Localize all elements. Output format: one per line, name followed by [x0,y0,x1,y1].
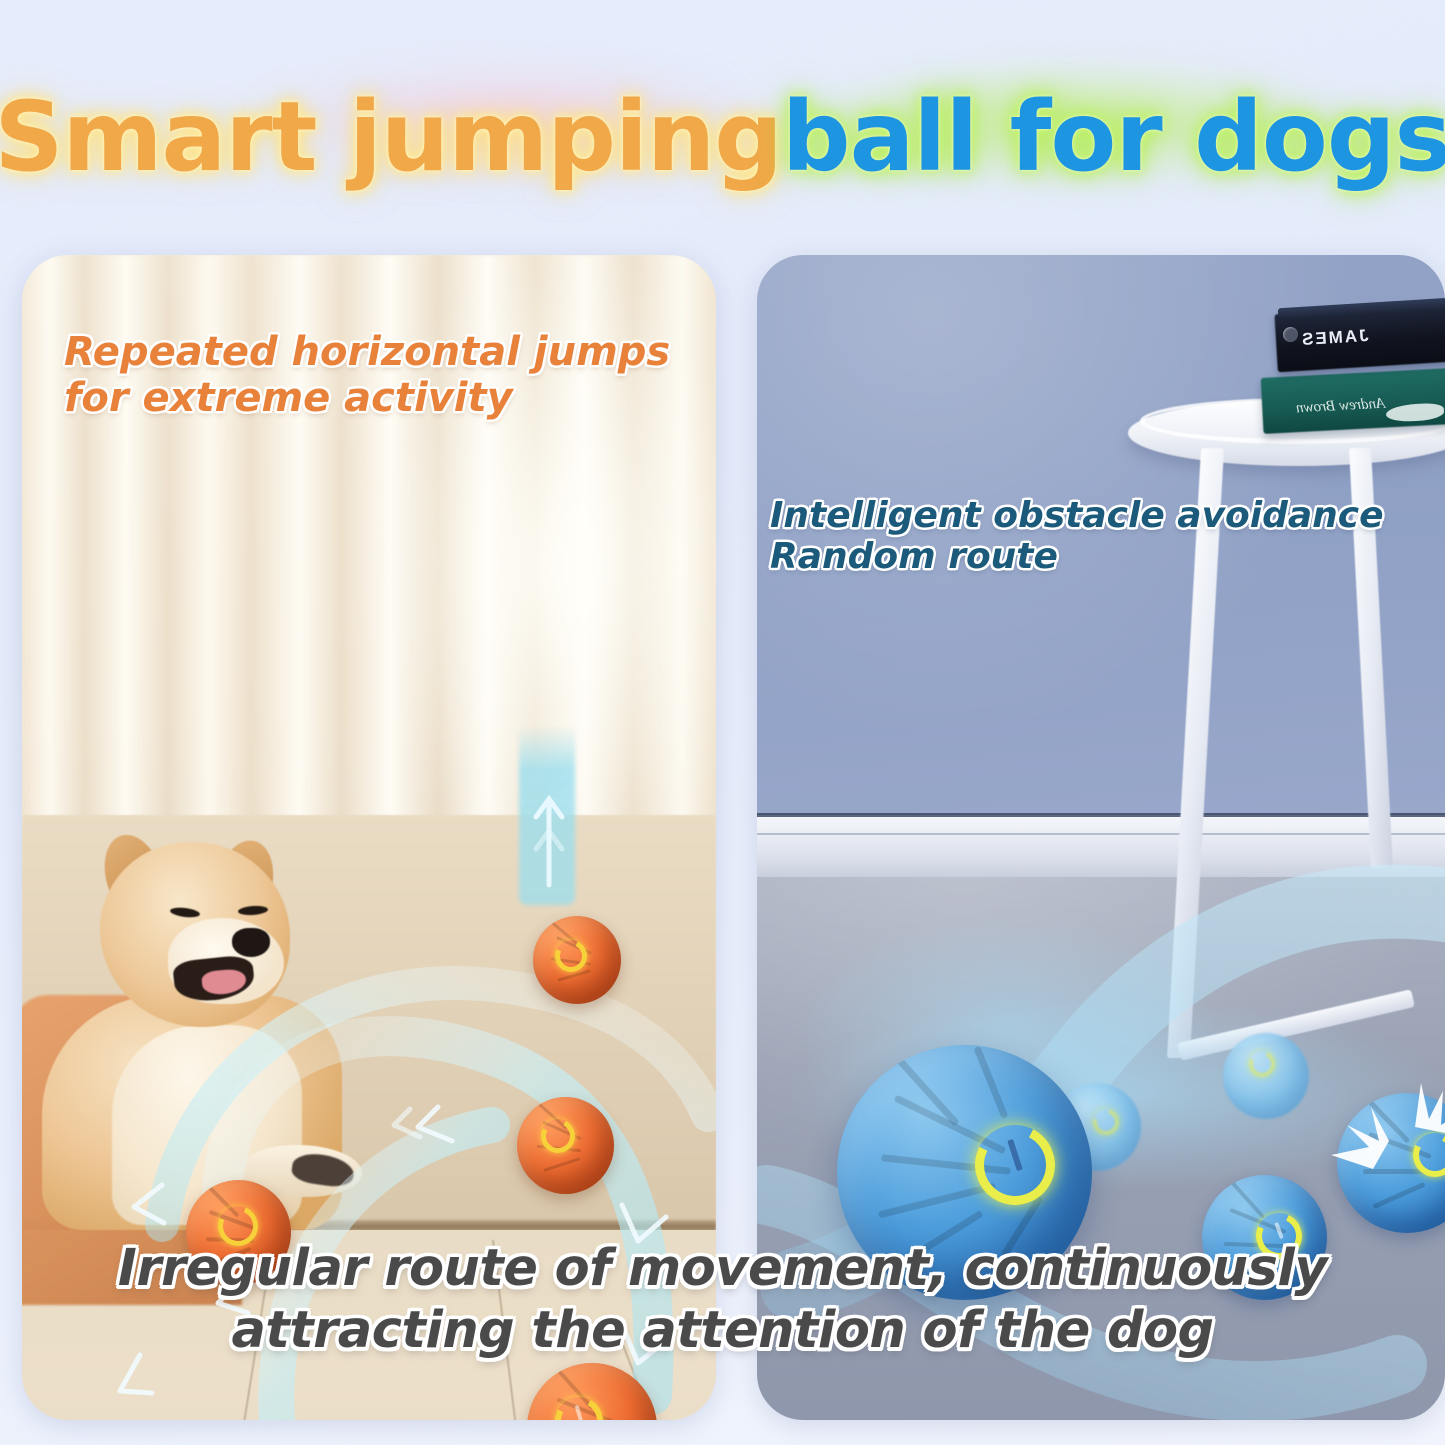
title-part-orange: Smart jumping [0,89,782,185]
title-part-blue: ball for dogs [782,89,1445,185]
dog-nose [232,928,270,957]
power-ring-icon [1245,1047,1278,1080]
book-black-label: JAMES [1299,326,1369,350]
dog-shiba-inu [42,810,462,1230]
ball-blue-ghost-mid [1223,1033,1309,1119]
bottom-caption: Irregular route of movement, continuousl… [0,1238,1445,1362]
vertical-jump-trail [519,725,575,905]
ball-orange-jumping-mid [517,1097,614,1194]
page-title: Smart jumping ball for dogs [0,72,1445,202]
left-panel-caption: Repeated horizontal jumps for extreme ac… [64,330,670,421]
power-ring-icon [1088,1104,1124,1140]
right-panel-caption: Intelligent obstacle avoidance Random ro… [770,495,1384,577]
ball-orange-jumping-top [533,916,621,1004]
